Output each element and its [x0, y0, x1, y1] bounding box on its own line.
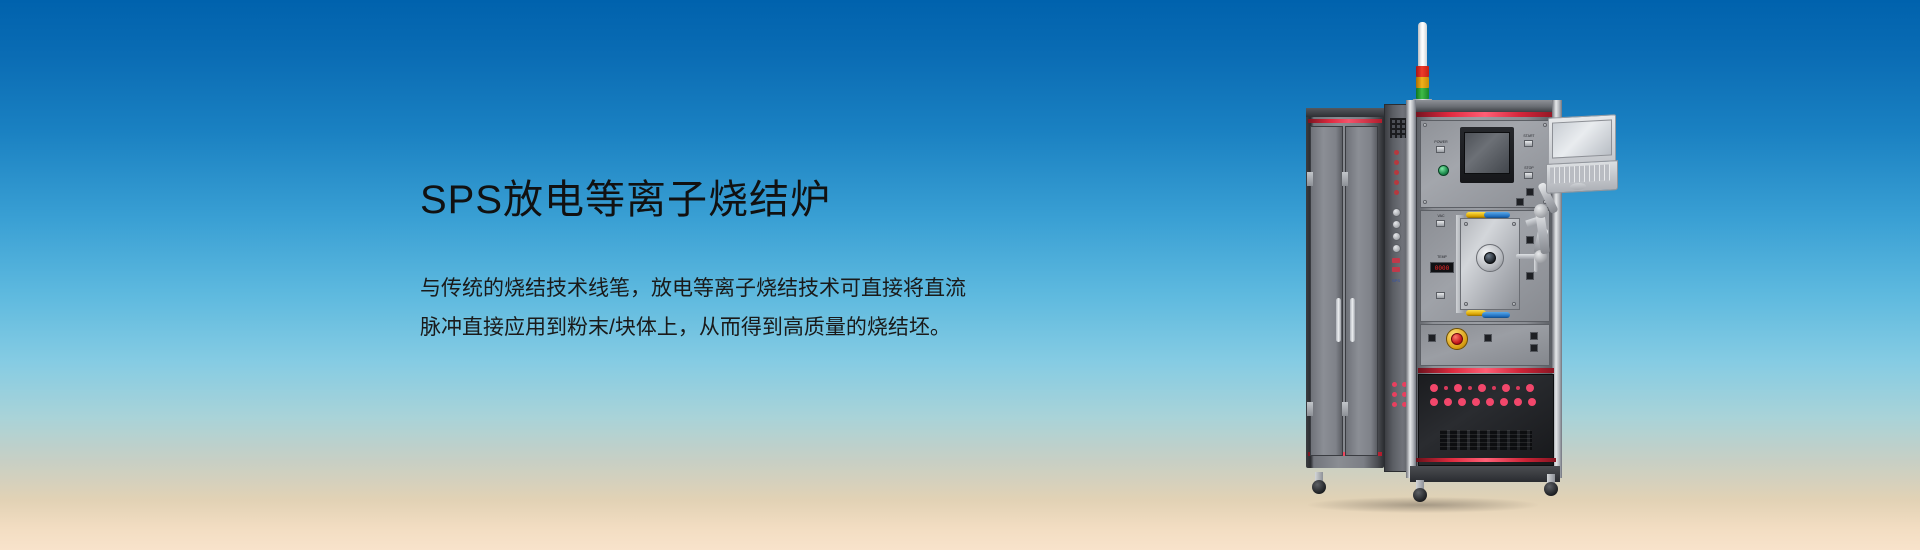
indicator-dot	[1492, 386, 1496, 390]
side-connector-port	[1392, 220, 1401, 229]
corner-post-left	[1406, 100, 1416, 478]
panel-screw	[1423, 123, 1427, 127]
cabinet-hinge	[1307, 402, 1313, 416]
side-connector-port	[1392, 232, 1401, 241]
indicator-dot	[1528, 398, 1536, 406]
digital-readout: 0000	[1430, 262, 1454, 273]
indicator-dot	[1500, 398, 1508, 406]
viewport-glass	[1484, 252, 1496, 264]
laptop-screen[interactable]	[1552, 119, 1612, 158]
side-indicator	[1394, 190, 1399, 195]
signal-light-amber-icon	[1416, 77, 1429, 88]
left-cabinet-door-b	[1345, 126, 1378, 456]
indicator-dot	[1472, 398, 1480, 406]
machine-top-cover	[1410, 100, 1560, 112]
monitor-arm-joint-mid	[1534, 204, 1548, 218]
indicator-dot	[1444, 386, 1448, 390]
side-indicator	[1394, 150, 1399, 155]
cabinet-hinge	[1342, 402, 1348, 416]
toggle-switch-power[interactable]	[1436, 146, 1445, 153]
left-cabinet-handle-b	[1350, 298, 1355, 342]
bottom-accent-stripe-a	[1416, 458, 1556, 462]
label-stop: STOP	[1519, 166, 1539, 170]
chamber-screw	[1464, 302, 1468, 306]
page-title: SPS放电等离子烧结炉	[420, 178, 1060, 222]
blue-gas-tube-lower	[1482, 312, 1510, 318]
side-indicator	[1394, 160, 1399, 165]
indicator-dot	[1430, 384, 1438, 392]
description-line-2: 脉冲直接应用到粉末/块体上，从而得到高质量的烧结坯。	[420, 309, 1060, 348]
side-indicator	[1394, 180, 1399, 185]
emergency-stop-button[interactable]	[1451, 333, 1463, 345]
label-vac: VAC	[1429, 214, 1453, 218]
panel-screw	[1423, 200, 1427, 204]
push-button[interactable]	[1516, 198, 1524, 206]
indicator-dot	[1486, 398, 1494, 406]
side-indicator	[1394, 170, 1399, 175]
push-button[interactable]	[1484, 334, 1492, 342]
signal-light-green-icon	[1416, 88, 1429, 99]
side-port-label: SPS	[1392, 278, 1400, 283]
label-temp: TEMP	[1428, 255, 1456, 259]
side-terminal	[1392, 258, 1400, 263]
mid-accent-stripe	[1418, 368, 1554, 373]
toggle-switch-vac[interactable]	[1436, 220, 1445, 227]
side-indicator	[1392, 402, 1397, 407]
left-cabinet-door-a	[1310, 126, 1343, 456]
side-indicator	[1392, 392, 1397, 397]
indicator-dot	[1468, 386, 1472, 390]
left-cabinet-top	[1306, 108, 1384, 117]
indicator-dot	[1516, 386, 1520, 390]
signal-light-red-icon	[1416, 66, 1429, 77]
side-connector-port	[1392, 244, 1401, 253]
side-indicator	[1392, 382, 1397, 387]
push-button[interactable]	[1530, 332, 1538, 340]
base-plinth	[1410, 466, 1560, 482]
top-accent-stripe	[1414, 112, 1556, 117]
chamber-screw	[1512, 222, 1516, 226]
push-button[interactable]	[1530, 344, 1538, 352]
caster-wheel	[1544, 474, 1558, 496]
hero-banner: SPS放电等离子烧结炉 与传统的烧结技术线笔，放电等离子烧结技术可直接将直流 脉…	[0, 0, 1920, 550]
label-start: START	[1519, 134, 1539, 138]
side-terminal	[1392, 267, 1400, 272]
banner-description: 与传统的烧结技术线笔，放电等离子烧结技术可直接将直流 脉冲直接应用到粉末/块体上…	[420, 270, 1060, 348]
indicator-dot	[1514, 398, 1522, 406]
indicator-dot	[1458, 398, 1466, 406]
push-button[interactable]	[1526, 272, 1534, 280]
caster-tire	[1312, 480, 1326, 494]
push-button[interactable]	[1428, 334, 1436, 342]
side-connector-port	[1392, 208, 1401, 217]
cabinet-hinge	[1342, 172, 1348, 186]
label-power: POWER	[1431, 140, 1451, 144]
hmi-display-screen[interactable]	[1464, 132, 1510, 174]
caster-wheel	[1413, 480, 1427, 502]
indicator-dot	[1454, 384, 1462, 392]
product-photo-sps-furnace: SPS POWER START STOP	[1298, 22, 1598, 530]
description-line-1: 与传统的烧结技术线笔，放电等离子烧结技术可直接将直流	[420, 270, 1060, 309]
indicator-dot	[1444, 398, 1452, 406]
chamber-screw	[1464, 222, 1468, 226]
chamber-screw	[1512, 302, 1516, 306]
indicator-dot	[1526, 384, 1534, 392]
panel-screw	[1543, 123, 1547, 127]
banner-copy: SPS放电等离子烧结炉 与传统的烧结技术线笔，放电等离子烧结技术可直接将直流 脉…	[420, 178, 1060, 348]
caster-tire	[1413, 488, 1427, 502]
push-button[interactable]	[1526, 188, 1534, 196]
cabinet-hinge	[1307, 172, 1313, 186]
toggle-switch-start[interactable]	[1524, 140, 1533, 147]
laptop-keyboard[interactable]	[1550, 164, 1610, 183]
caster-wheel	[1312, 472, 1326, 494]
indicator-dot	[1478, 384, 1486, 392]
push-button[interactable]	[1526, 236, 1534, 244]
lower-vent-grille	[1440, 430, 1532, 450]
indicator-dot	[1502, 384, 1510, 392]
green-selector-knob[interactable]	[1438, 165, 1449, 176]
toggle-switch-aux[interactable]	[1436, 292, 1445, 299]
left-cabinet-handle-a	[1336, 298, 1341, 342]
caster-tire	[1544, 482, 1558, 496]
indicator-dot	[1430, 398, 1438, 406]
toggle-switch-stop[interactable]	[1524, 172, 1533, 179]
left-cabinet-stripe-top	[1308, 119, 1382, 123]
